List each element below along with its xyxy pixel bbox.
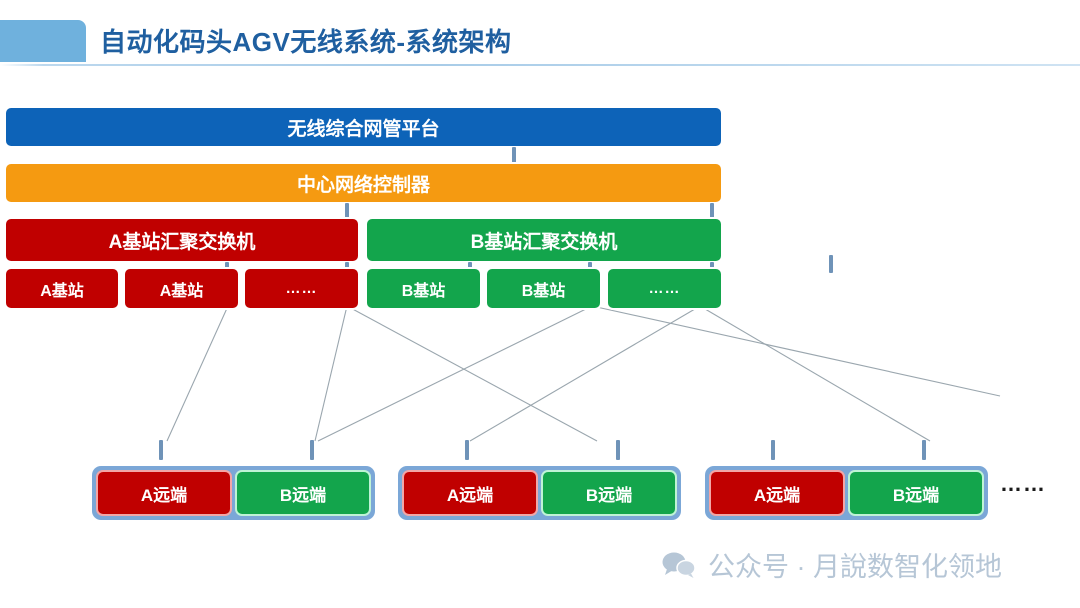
- connector-to-remote-1b: [310, 440, 314, 460]
- node-remote-a-2[interactable]: A远端: [402, 470, 538, 516]
- node-label: 中心网络控制器: [297, 170, 430, 197]
- architecture-diagram: 无线综合网管平台 中心网络控制器 A基站汇聚交换机 B基站汇聚交换机 A基站 A…: [0, 66, 1080, 608]
- watermark-text: 公众号 · 月說数智化领地: [708, 545, 1002, 584]
- node-label: ……: [649, 280, 681, 297]
- node-aggregation-switch-a[interactable]: A基站汇聚交换机: [4, 217, 360, 263]
- node-label: A远端: [754, 481, 800, 506]
- node-management-platform[interactable]: 无线综合网管平台: [4, 106, 723, 148]
- connector-stub-isolated: [829, 255, 833, 273]
- node-base-station-a-2[interactable]: A基站: [123, 267, 240, 310]
- connector-to-remote-2b: [616, 440, 620, 460]
- page-header: 自动化码头AGV无线系统-系统架构: [0, 0, 1080, 66]
- remote-unit-group-2[interactable]: A远端 B远端: [398, 466, 681, 520]
- header-accent-block: [0, 20, 86, 62]
- node-label: A基站: [160, 277, 204, 301]
- node-base-station-b-more[interactable]: ……: [606, 267, 723, 310]
- node-label: A远端: [447, 481, 493, 506]
- node-base-station-a-more[interactable]: ……: [243, 267, 360, 310]
- remote-unit-group-3[interactable]: A远端 B远端: [705, 466, 988, 520]
- node-remote-a-1[interactable]: A远端: [96, 470, 232, 516]
- node-remote-a-3[interactable]: A远端: [709, 470, 845, 516]
- node-central-controller[interactable]: 中心网络控制器: [4, 162, 723, 204]
- node-label: B基站: [522, 277, 566, 301]
- node-base-station-b-2[interactable]: B基站: [485, 267, 602, 310]
- node-label: ……: [286, 280, 318, 297]
- connector-to-remote-3b: [922, 440, 926, 460]
- node-label: A基站汇聚交换机: [109, 227, 256, 254]
- node-label: A远端: [141, 481, 187, 506]
- node-remote-b-2[interactable]: B远端: [541, 470, 677, 516]
- node-label: 无线综合网管平台: [287, 114, 439, 141]
- connector-to-remote-2a: [465, 440, 469, 460]
- wechat-icon: [662, 551, 696, 579]
- node-label: B基站汇聚交换机: [471, 227, 618, 254]
- node-label: B远端: [280, 481, 326, 506]
- watermark: 公众号 · 月說数智化领地: [662, 545, 1002, 584]
- connector-to-remote-1a: [159, 440, 163, 460]
- node-remote-b-3[interactable]: B远端: [848, 470, 984, 516]
- page-title: 自动化码头AGV无线系统-系统架构: [100, 22, 512, 59]
- node-base-station-b-1[interactable]: B基站: [365, 267, 482, 310]
- node-base-station-a-1[interactable]: A基站: [4, 267, 120, 310]
- node-remote-b-1[interactable]: B远端: [235, 470, 371, 516]
- remote-unit-group-1[interactable]: A远端 B远端: [92, 466, 375, 520]
- node-aggregation-switch-b[interactable]: B基站汇聚交换机: [365, 217, 723, 263]
- node-label: A基站: [40, 277, 84, 301]
- connector-to-remote-3a: [771, 440, 775, 460]
- node-label: B远端: [586, 481, 632, 506]
- node-label: B远端: [893, 481, 939, 506]
- remote-units-more-indicator: ……: [1000, 471, 1046, 497]
- node-label: B基站: [402, 277, 446, 301]
